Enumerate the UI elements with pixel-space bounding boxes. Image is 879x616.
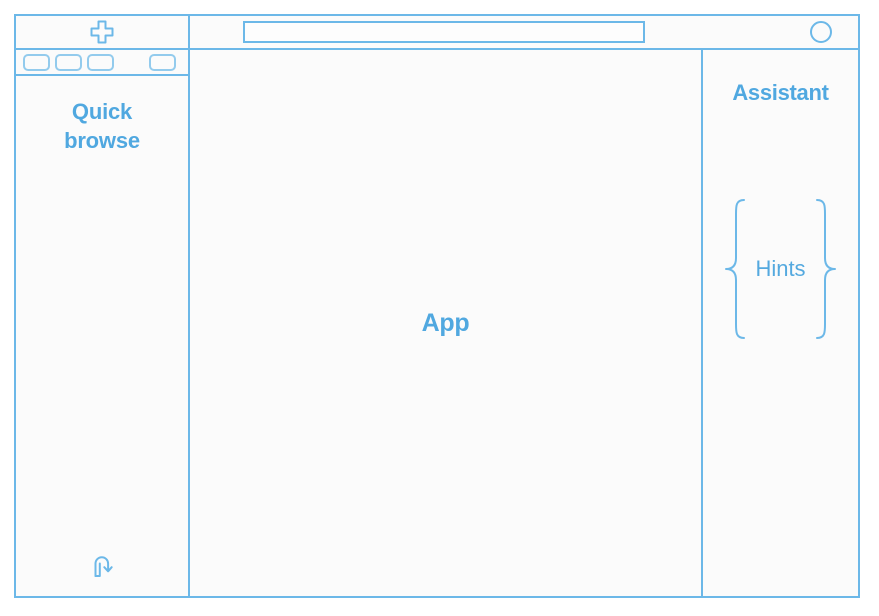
tab-chip-1[interactable] — [23, 54, 50, 71]
hints-label: Hints — [749, 256, 811, 282]
u-turn-arrow-icon[interactable] — [87, 551, 117, 586]
sidebar-title: Quick browse — [16, 98, 188, 155]
toolbar-left-section — [16, 16, 190, 48]
toolbar-center-section — [190, 16, 698, 48]
toolbar-right-section — [698, 16, 858, 48]
app-label: App — [422, 309, 470, 338]
brace-right-icon — [812, 198, 838, 340]
assistant-panel: Assistant Hints — [701, 50, 858, 596]
sidebar-tabbar — [16, 50, 188, 76]
sidebar-title-line-1: Quick — [28, 98, 176, 127]
tab-chip-4[interactable] — [149, 54, 176, 71]
assistant-title: Assistant — [732, 80, 828, 106]
tab-chip-2[interactable] — [55, 54, 82, 71]
tab-chip-3[interactable] — [87, 54, 114, 71]
window-body: Quick browse App Assistant — [16, 50, 858, 596]
search-input[interactable] — [243, 21, 645, 43]
sidebar-title-line-2: browse — [28, 127, 176, 156]
circle-avatar-icon[interactable] — [810, 21, 832, 43]
brace-left-icon — [723, 198, 749, 340]
wireframe-window: Quick browse App Assistant — [14, 14, 860, 598]
sidebar-footer — [16, 551, 188, 586]
hints-block[interactable]: Hints — [703, 198, 858, 340]
sidebar-panel: Quick browse — [16, 50, 190, 596]
plus-icon[interactable] — [89, 19, 115, 45]
top-toolbar — [16, 16, 858, 50]
app-content-area[interactable]: App — [190, 50, 701, 596]
